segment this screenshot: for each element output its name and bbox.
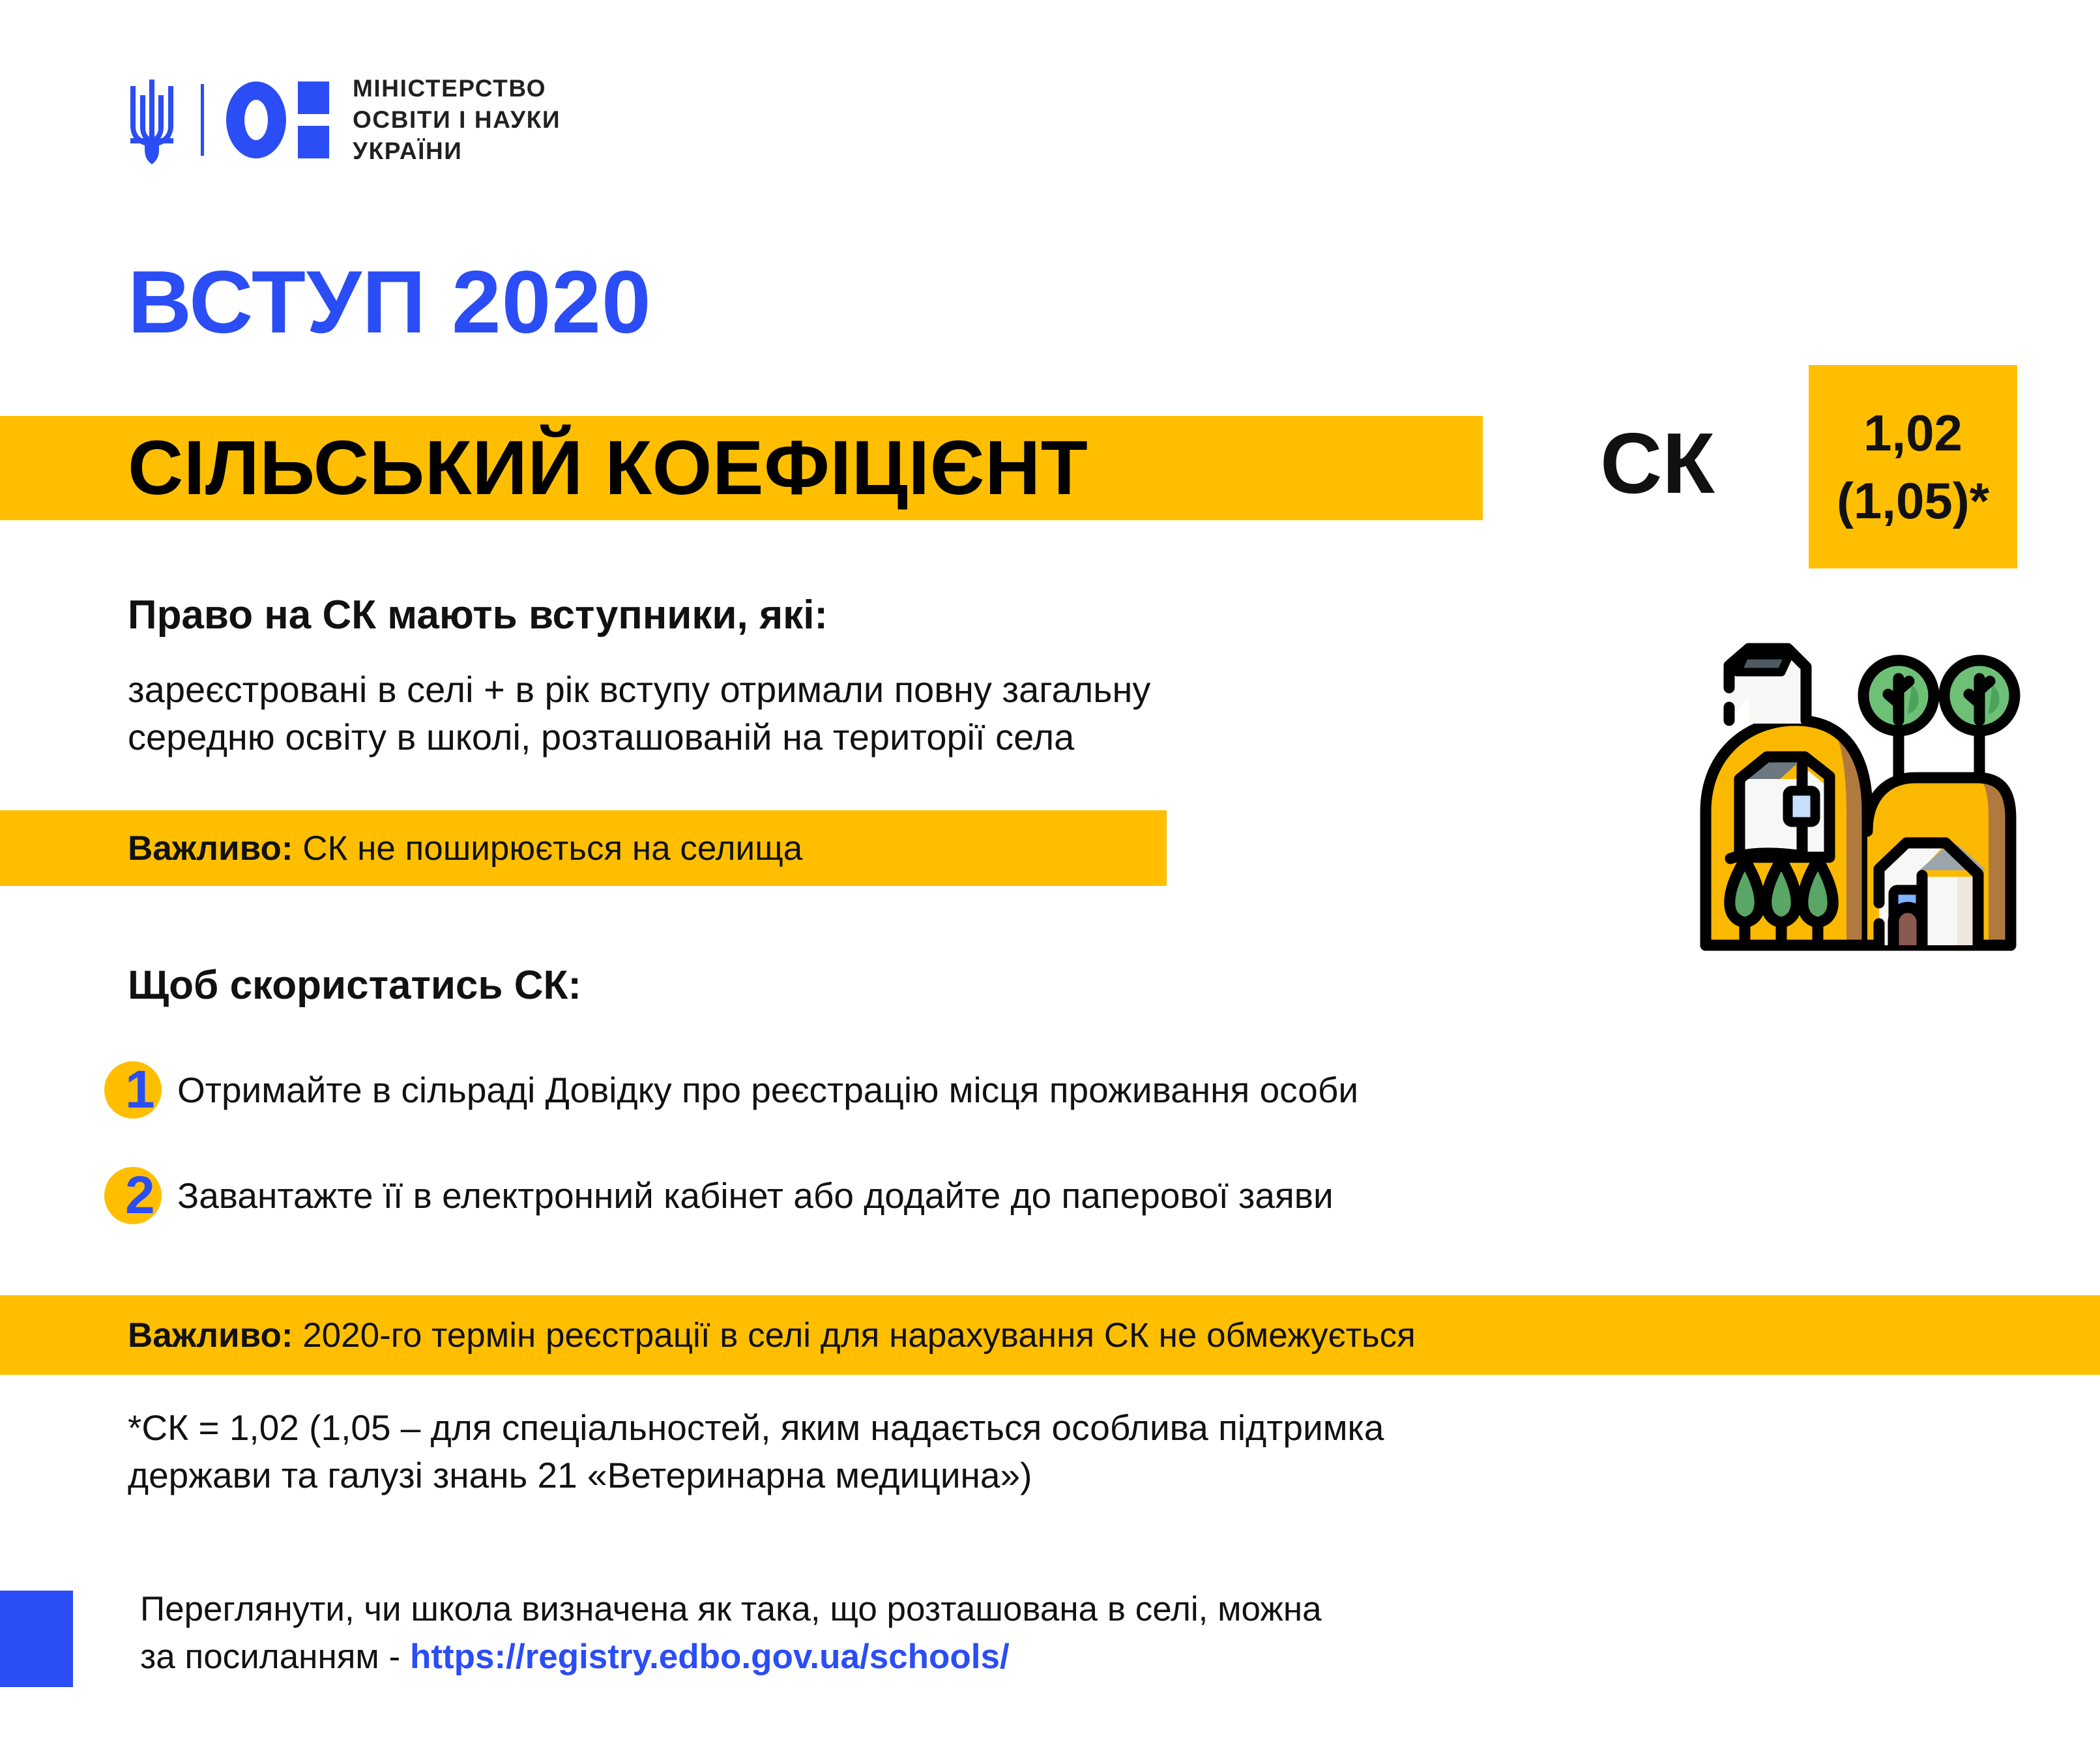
important-note-2: Важливо: 2020-го термін реєстрації в сел…	[0, 1295, 2100, 1375]
step-text-2: Завантажте її в електронний кабінет або …	[177, 1178, 1334, 1214]
footer-line-1: Переглянути, чи школа визначена як така,…	[140, 1585, 1322, 1633]
eligibility-heading: Право на СК мають вступники, які:	[128, 595, 828, 636]
important-2-label: Важливо:	[128, 1316, 293, 1355]
infographic-page: МІНІСТЕРСТВО ОСВІТИ І НАУКИ УКРАЇНИ ВСТУ…	[0, 0, 2100, 1764]
logo-divider	[201, 84, 204, 156]
ministry-line-3: УКРАЇНИ	[353, 136, 561, 167]
steps-heading: Щоб скористатись СК:	[128, 965, 581, 1006]
important-note-1: Важливо: СК не поширюється на селища	[0, 810, 1167, 886]
important-2-text: 2020-го термін реєстрації в селі для нар…	[293, 1316, 1415, 1355]
page-title-bar: СІЛЬСЬКИЙ КОЕФІЦІЄНТ	[0, 416, 1483, 520]
logo-colon-icon	[298, 81, 329, 158]
sk-value-badge: 1,02 (1,05)*	[1809, 365, 2017, 568]
step-number-badge-1: 1	[104, 1061, 162, 1119]
logo-o-icon	[226, 81, 286, 158]
footnote-line-2: держави та галузі знань 21 «Ветеринарна …	[128, 1452, 1384, 1499]
footer-note: Переглянути, чи школа визначена як така,…	[140, 1585, 1322, 1681]
eligibility-line-2: середню освіту в школі, розташованій на …	[128, 714, 1150, 761]
page-title: СІЛЬСЬКИЙ КОЕФІЦІЄНТ	[128, 430, 1088, 507]
eligibility-body: зареєстровані в селі + в рік вступу отри…	[128, 666, 1150, 761]
step-item-1: 1 Отримайте в сільраді Довідку про реєст…	[104, 1061, 1358, 1119]
important-1-text: СК не поширюється на селища	[293, 829, 802, 868]
village-houses-trees-icon	[1672, 616, 2050, 955]
ministry-line-2: ОСВІТИ І НАУКИ	[353, 104, 561, 136]
ministry-logo: МІНІСТЕРСТВО ОСВІТИ І НАУКИ УКРАЇНИ	[128, 73, 561, 167]
step-item-2: 2 Завантажте її в електронний кабінет аб…	[104, 1167, 1334, 1224]
step-text-1: Отримайте в сільраді Довідку про реєстра…	[177, 1072, 1358, 1108]
eligibility-line-1: зареєстровані в селі + в рік вступу отри…	[128, 666, 1150, 714]
footer-line-2-prefix: за посиланням -	[140, 1638, 410, 1676]
ministry-name: МІНІСТЕРСТВО ОСВІТИ І НАУКИ УКРАЇНИ	[353, 73, 561, 167]
footnote-line-1: *СК = 1,02 (1,05 – для спеціальностей, я…	[128, 1404, 1384, 1452]
sk-value-primary: 1,02	[1863, 407, 1962, 458]
ministry-line-1: МІНІСТЕРСТВО	[353, 73, 561, 104]
step-number-2: 2	[125, 1169, 155, 1222]
sk-abbreviation: СК	[1600, 420, 1715, 507]
footer-blue-marker	[0, 1591, 73, 1687]
sk-value-secondary: (1,05)*	[1837, 475, 1989, 526]
footnote: *СК = 1,02 (1,05 – для спеціальностей, я…	[128, 1404, 1384, 1499]
important-1-label: Важливо:	[128, 829, 293, 868]
ukraine-trident-icon	[128, 76, 176, 164]
step-number-badge-2: 2	[104, 1167, 162, 1224]
kicker-vstup-2020: ВСТУП 2020	[128, 257, 652, 346]
registry-url-link[interactable]: https://registry.edbo.gov.ua/schools/	[410, 1638, 1010, 1676]
step-number-1: 1	[125, 1063, 155, 1117]
mon-mark-icon	[226, 81, 329, 158]
